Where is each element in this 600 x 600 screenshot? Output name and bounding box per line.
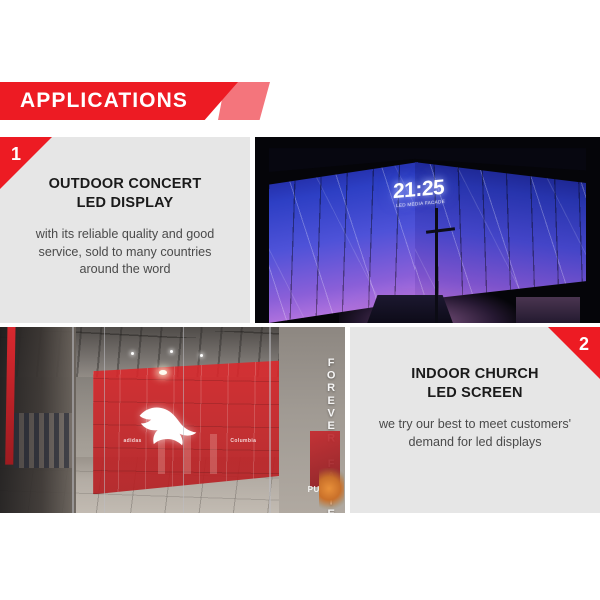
spotlight-dot [170,350,173,353]
brand-tag-row: adidas Columbia [124,438,257,444]
card-1-title-line-2: LED DISPLAY [18,194,233,213]
bright-ceiling-light [159,370,167,375]
card-2-title-line-2: LED SCREEN [368,384,583,403]
glass-mullion-1 [72,327,74,513]
flower-arrangement [319,468,344,509]
spotlight-dot [200,354,203,357]
spotlight-dot [131,352,134,355]
card-2-description: we try our best to meet customers' deman… [370,416,580,451]
corner-triangle-icon [0,137,52,189]
building-base [367,295,453,323]
right-store-section: FOREVER FASTER PUMA [279,327,345,513]
applications-header-banner: APPLICATIONS [0,82,600,120]
ceiling-spotlights [104,347,242,358]
clothing-racks [14,413,73,469]
led-cube-building: 21:25 LED MEDIA FACADE [269,148,586,323]
brand-tag-left: adidas [124,438,142,444]
light-pole [435,208,437,323]
retail-store-scene: adidas Columbia FOREVER FASTER PUMA [0,327,345,513]
card-1-number: 1 [11,145,21,163]
brand-tag-right: Columbia [230,438,256,444]
card-2-number-badge: 2 [548,327,600,379]
corner-triangle-icon [548,327,600,379]
card-1-description: with its reliable quality and good servi… [20,226,230,278]
application-row-1: 1 OUTDOOR CONCERT LED DISPLAY with its r… [0,137,600,323]
application-card-2: 2 INDOOR CHURCH LED SCREEN we try our be… [350,327,600,513]
application-row-2: adidas Columbia FOREVER FASTER PUMA [0,327,600,513]
glass-mullion-4 [269,327,271,513]
card-1-number-badge: 1 [0,137,52,189]
glass-mullion-2 [104,327,106,513]
card-1-photo: 21:25 LED MEDIA FACADE [255,137,600,323]
application-card-1: 1 OUTDOOR CONCERT LED DISPLAY with its r… [0,137,250,323]
glass-mullion-3 [183,327,185,513]
card-2-photo: adidas Columbia FOREVER FASTER PUMA [0,327,345,513]
page-title: APPLICATIONS [20,82,188,120]
side-structure [516,297,579,323]
transparent-red-led-wall: adidas Columbia [93,360,283,494]
night-concert-scene: 21:25 LED MEDIA FACADE [255,137,600,323]
card-2-number: 2 [579,335,589,353]
